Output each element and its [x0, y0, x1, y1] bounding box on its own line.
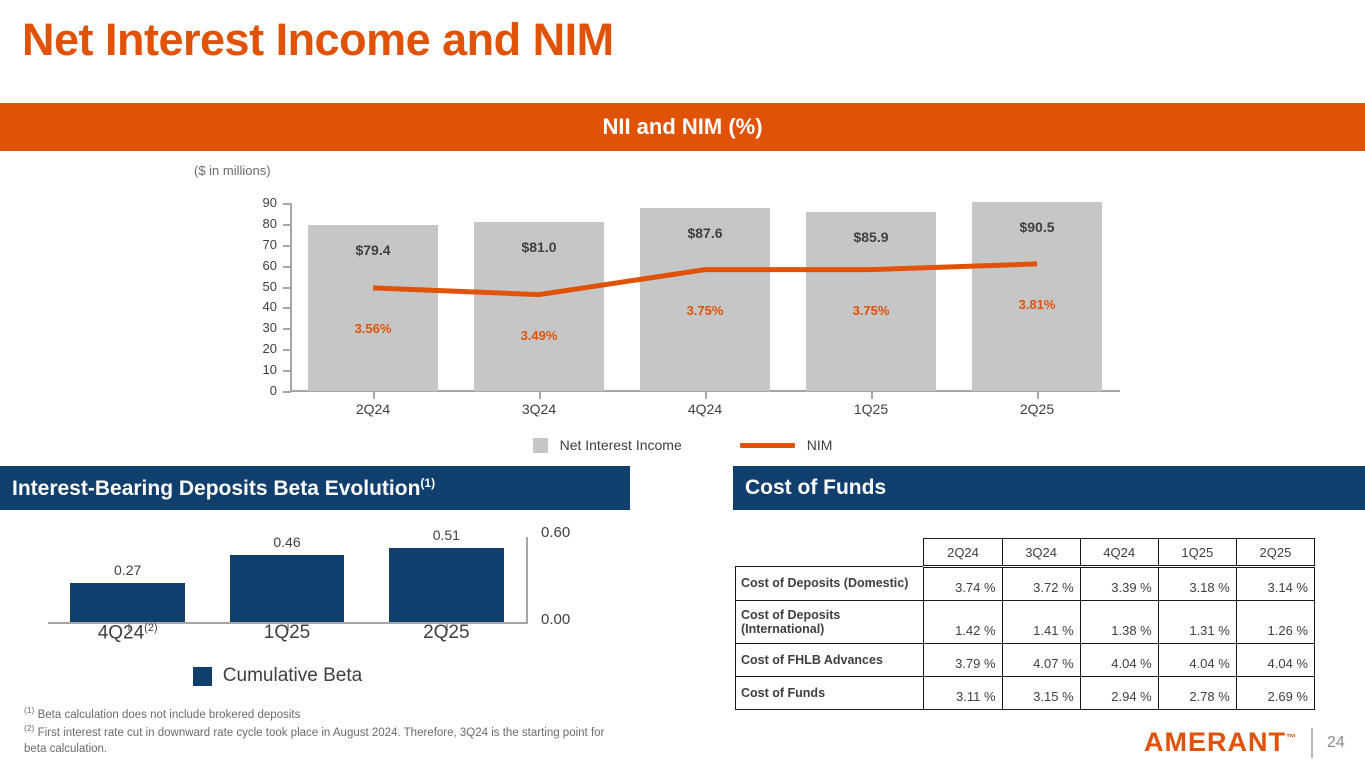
table-cell-value: 1.31 % [1158, 601, 1236, 644]
legend-item-net-interest-income: Net Interest Income [533, 437, 682, 453]
nim-value-label: 3.49% [521, 328, 558, 343]
table-cell-value: 1.38 % [1080, 601, 1158, 644]
legend-label-nim: NIM [807, 437, 833, 453]
page-title: Net Interest Income and NIM [22, 14, 614, 66]
x-axis-tick-label: 2Q25 [1020, 401, 1054, 417]
legend-label-net-interest-income: Net Interest Income [560, 437, 682, 453]
beta-section-header: Interest-Bearing Deposits Beta Evolution… [0, 466, 630, 510]
table-cell-value: 2.94 % [1080, 677, 1158, 710]
table-cell-value: 1.41 % [1002, 601, 1080, 644]
beta-bar [389, 548, 504, 622]
footnote-item: (2) First interest rate cut in downward … [24, 723, 624, 757]
table-row: Cost of Funds3.11 %3.15 %2.94 %2.78 %2.6… [736, 677, 1315, 710]
cumulative-beta-chart: 0.60 0.00 0.270.460.51 4Q24(2)1Q252Q25 C… [0, 510, 700, 700]
beta-x-axis-tick-label: 4Q24(2) [98, 622, 158, 644]
table-cell-value: 2.78 % [1158, 677, 1236, 710]
nim-value-label: 3.81% [1019, 297, 1056, 312]
page-number: 24 [1327, 734, 1347, 752]
footnote-text: First interest rate cut in downward rate… [24, 727, 604, 755]
cost-of-funds-section-header: Cost of Funds [733, 466, 1365, 510]
y-axis-tick-label: 20 [243, 341, 277, 356]
beta-x-axis-tick-label: 1Q25 [264, 622, 310, 644]
table-cell-value: 4.04 % [1158, 644, 1236, 677]
table-row: Cost of Deposits(International)1.42 %1.4… [736, 601, 1315, 644]
beta-axis-max-label: 0.60 [541, 524, 570, 541]
y-axis-tick-label: 30 [243, 320, 277, 335]
beta-title-footnote-mark: (1) [420, 476, 435, 490]
nim-value-label: 3.75% [687, 303, 724, 318]
table-header: 2Q243Q244Q241Q252Q25 [736, 539, 1315, 567]
y-axis-tick-label: 70 [243, 237, 277, 252]
table-cell-value: 1.26 % [1236, 601, 1314, 644]
nim-value-label: 3.75% [853, 303, 890, 318]
footnote-mark: (1) [24, 705, 34, 715]
table-cell-value: 3.72 % [1002, 567, 1080, 601]
beta-chart-legend: Cumulative Beta [0, 665, 555, 687]
table-cell-value: 3.15 % [1002, 677, 1080, 710]
beta-swatch-icon [193, 667, 212, 686]
x-axis-tick-label: 1Q25 [854, 401, 888, 417]
trademark-icon: ™ [1286, 733, 1297, 744]
nii-nim-chart: ($ in millions) 0102030405060708090 $79.… [0, 151, 1365, 461]
chart-units-label: ($ in millions) [194, 163, 271, 178]
bar-swatch-icon [533, 438, 548, 453]
table-cell-value: 3.79 % [924, 644, 1002, 677]
y-axis-tick-label: 80 [243, 216, 277, 231]
x-axis-tick [539, 392, 541, 399]
x-axis-tick-label: 4Q24 [688, 401, 722, 417]
table-row-header: Cost of Funds [736, 677, 924, 710]
footer-divider [1311, 728, 1313, 758]
y-axis-tick-label: 50 [243, 279, 277, 294]
y-axis-tick-label: 40 [243, 299, 277, 314]
y-axis-tick [283, 391, 291, 393]
beta-bar-value-label: 0.51 [433, 527, 460, 543]
table-cell-value: 4.04 % [1080, 644, 1158, 677]
x-axis-tick [1037, 392, 1039, 399]
table-column-header: 3Q24 [1002, 539, 1080, 567]
table-corner-cell [736, 539, 924, 567]
line-swatch-icon [740, 443, 795, 448]
table-cell-value: 1.42 % [924, 601, 1002, 644]
y-axis-tick-label: 10 [243, 362, 277, 377]
x-axis-tick-label: 2Q24 [356, 401, 390, 417]
beta-right-axis-line [526, 537, 528, 624]
cost-of-funds-table-wrap: 2Q243Q244Q241Q252Q25 Cost of Deposits (D… [735, 538, 1315, 710]
table-cell-value: 2.69 % [1236, 677, 1314, 710]
table-cell-value: 3.39 % [1080, 567, 1158, 601]
beta-x-axis-tick-label: 2Q25 [423, 622, 469, 644]
table-row: Cost of Deposits (Domestic)3.74 %3.72 %3… [736, 567, 1315, 601]
table-cell-value: 4.07 % [1002, 644, 1080, 677]
table-cell-value: 3.11 % [924, 677, 1002, 710]
table-column-header: 2Q25 [1236, 539, 1314, 567]
cost-of-funds-section-title: Cost of Funds [733, 476, 886, 500]
table-row-header: Cost of Deposits (Domestic) [736, 567, 924, 601]
table-body: Cost of Deposits (Domestic)3.74 %3.72 %3… [736, 567, 1315, 710]
beta-bar-value-label: 0.27 [114, 562, 141, 578]
nii-section-banner: NII and NIM (%) [0, 103, 1365, 151]
y-axis-tick-label: 60 [243, 258, 277, 273]
x-axis-tick-label: 3Q24 [522, 401, 556, 417]
x-axis-tick [373, 392, 375, 399]
nii-chart-legend: Net Interest Income NIM [0, 437, 1365, 453]
table-header-row: 2Q243Q244Q241Q252Q25 [736, 539, 1315, 567]
footnote-mark: (2) [24, 723, 34, 733]
table-column-header: 1Q25 [1158, 539, 1236, 567]
table-cell-value: 3.18 % [1158, 567, 1236, 601]
y-axis-tick-label: 0 [243, 383, 277, 398]
footnotes: (1) Beta calculation does not include br… [24, 705, 624, 757]
footnote-item: (1) Beta calculation does not include br… [24, 705, 624, 723]
x-axis-tick [871, 392, 873, 399]
beta-bar [230, 555, 345, 622]
table-column-header: 4Q24 [1080, 539, 1158, 567]
amerant-logo: AMERANT™ [1144, 727, 1297, 758]
table-row: Cost of FHLB Advances3.79 %4.07 %4.04 %4… [736, 644, 1315, 677]
nim-value-label: 3.56% [355, 321, 392, 336]
table-row-header: Cost of Deposits(International) [736, 601, 924, 644]
beta-axis-min-label: 0.00 [541, 611, 570, 628]
table-column-header: 2Q24 [924, 539, 1002, 567]
beta-bar-value-label: 0.46 [273, 534, 300, 550]
beta-section-title: Interest-Bearing Deposits Beta Evolution… [0, 476, 435, 501]
beta-bar [70, 583, 185, 622]
footer-brand: AMERANT™ 24 [1144, 727, 1347, 758]
table-cell-value: 4.04 % [1236, 644, 1314, 677]
cost-of-funds-table: 2Q243Q244Q241Q252Q25 Cost of Deposits (D… [735, 538, 1315, 710]
nim-line-series [290, 203, 1120, 391]
x-axis-tick [705, 392, 707, 399]
nii-banner-title: NII and NIM (%) [602, 114, 762, 140]
table-row-header: Cost of FHLB Advances [736, 644, 924, 677]
table-cell-value: 3.74 % [924, 567, 1002, 601]
footnote-text: Beta calculation does not include broker… [34, 709, 300, 721]
legend-item-nim: NIM [740, 437, 833, 453]
beta-category-footnote-mark: (2) [144, 622, 157, 634]
nim-polyline [373, 264, 1037, 295]
y-axis-tick-label: 90 [243, 195, 277, 210]
beta-legend-label: Cumulative Beta [223, 665, 362, 687]
table-cell-value: 3.14 % [1236, 567, 1314, 601]
